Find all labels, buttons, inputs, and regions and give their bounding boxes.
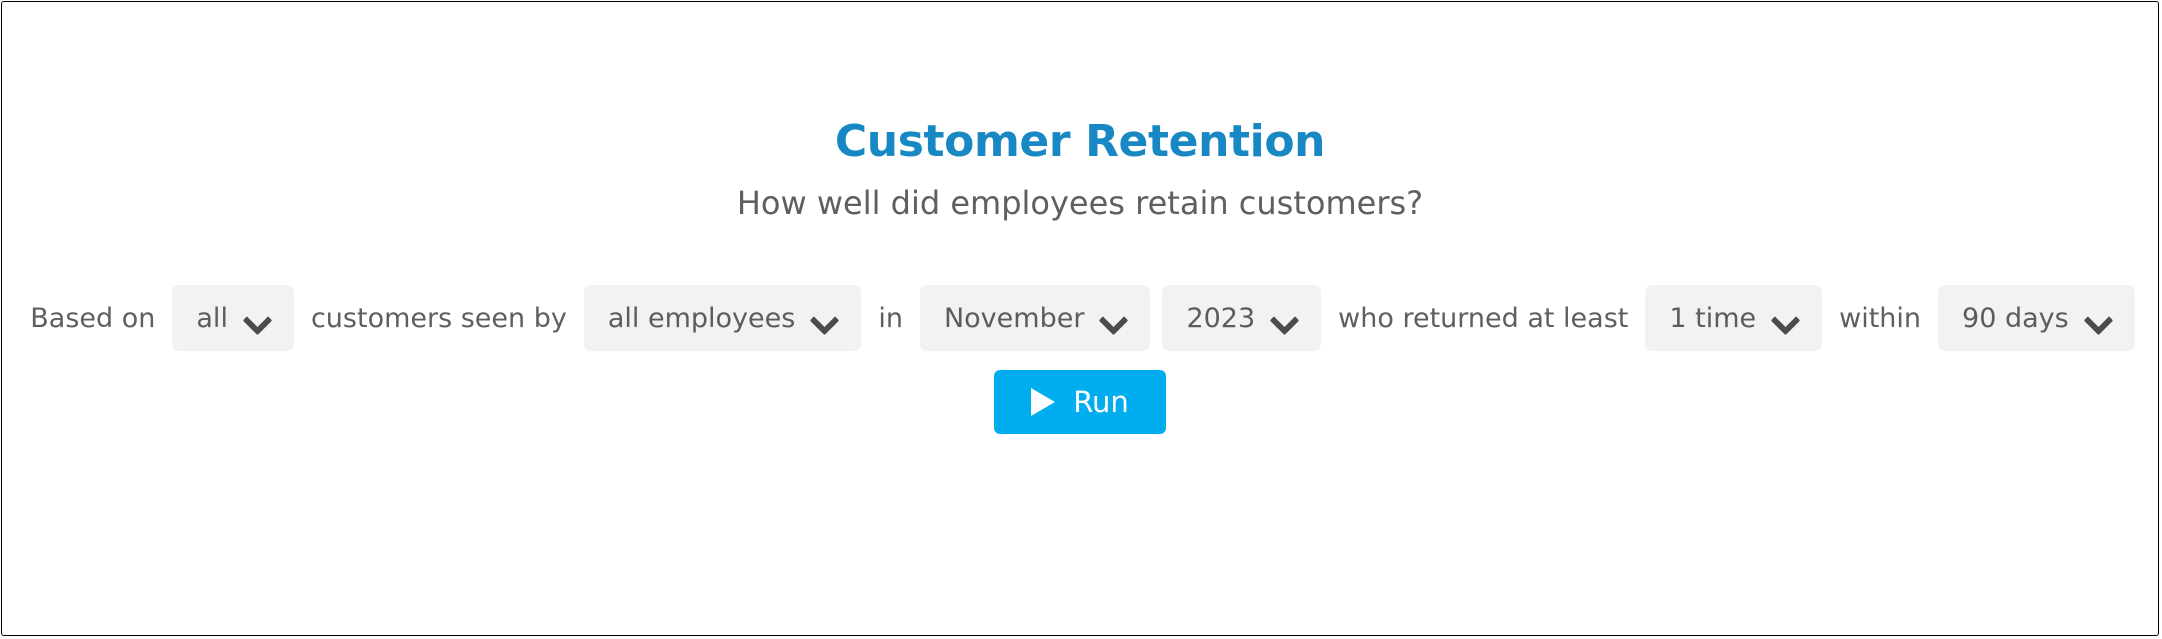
page-title: Customer Retention [2, 120, 2158, 164]
return-count-select-value: 1 time [1669, 305, 1756, 332]
scope-select-value: all [196, 305, 228, 332]
employee-select-value: all employees [608, 305, 795, 332]
label-in: in [867, 305, 914, 332]
label-customers-seen-by: customers seen by [300, 305, 578, 332]
run-button-row: Run [2, 370, 2158, 434]
chevron-down-icon [1100, 310, 1126, 326]
run-button[interactable]: Run [994, 370, 1166, 434]
year-select[interactable]: 2023 [1162, 285, 1321, 351]
label-who-returned-at-least: who returned at least [1327, 305, 1639, 332]
month-select-value: November [944, 305, 1084, 332]
page-subtitle: How well did employees retain customers? [2, 164, 2158, 219]
report-panel: Customer Retention How well did employee… [1, 1, 2159, 636]
time-window-select[interactable]: 90 days [1938, 285, 2135, 351]
chevron-down-icon [811, 310, 837, 326]
employee-select[interactable]: all employees [584, 285, 861, 351]
filter-sentence-bar: Based on all customers seen by all emplo… [2, 284, 2158, 352]
year-select-value: 2023 [1186, 305, 1255, 332]
month-select[interactable]: November [920, 285, 1150, 351]
chevron-down-icon [244, 310, 270, 326]
chevron-down-icon [1772, 310, 1798, 326]
report-header: Customer Retention How well did employee… [2, 120, 2158, 219]
label-based-on: Based on [19, 305, 166, 332]
time-window-select-value: 90 days [1962, 305, 2069, 332]
play-icon [1031, 388, 1055, 416]
run-button-label: Run [1073, 388, 1129, 417]
chevron-down-icon [1271, 310, 1297, 326]
chevron-down-icon [2085, 310, 2111, 326]
label-within: within [1828, 305, 1932, 332]
scope-select[interactable]: all [172, 285, 294, 351]
return-count-select[interactable]: 1 time [1645, 285, 1822, 351]
